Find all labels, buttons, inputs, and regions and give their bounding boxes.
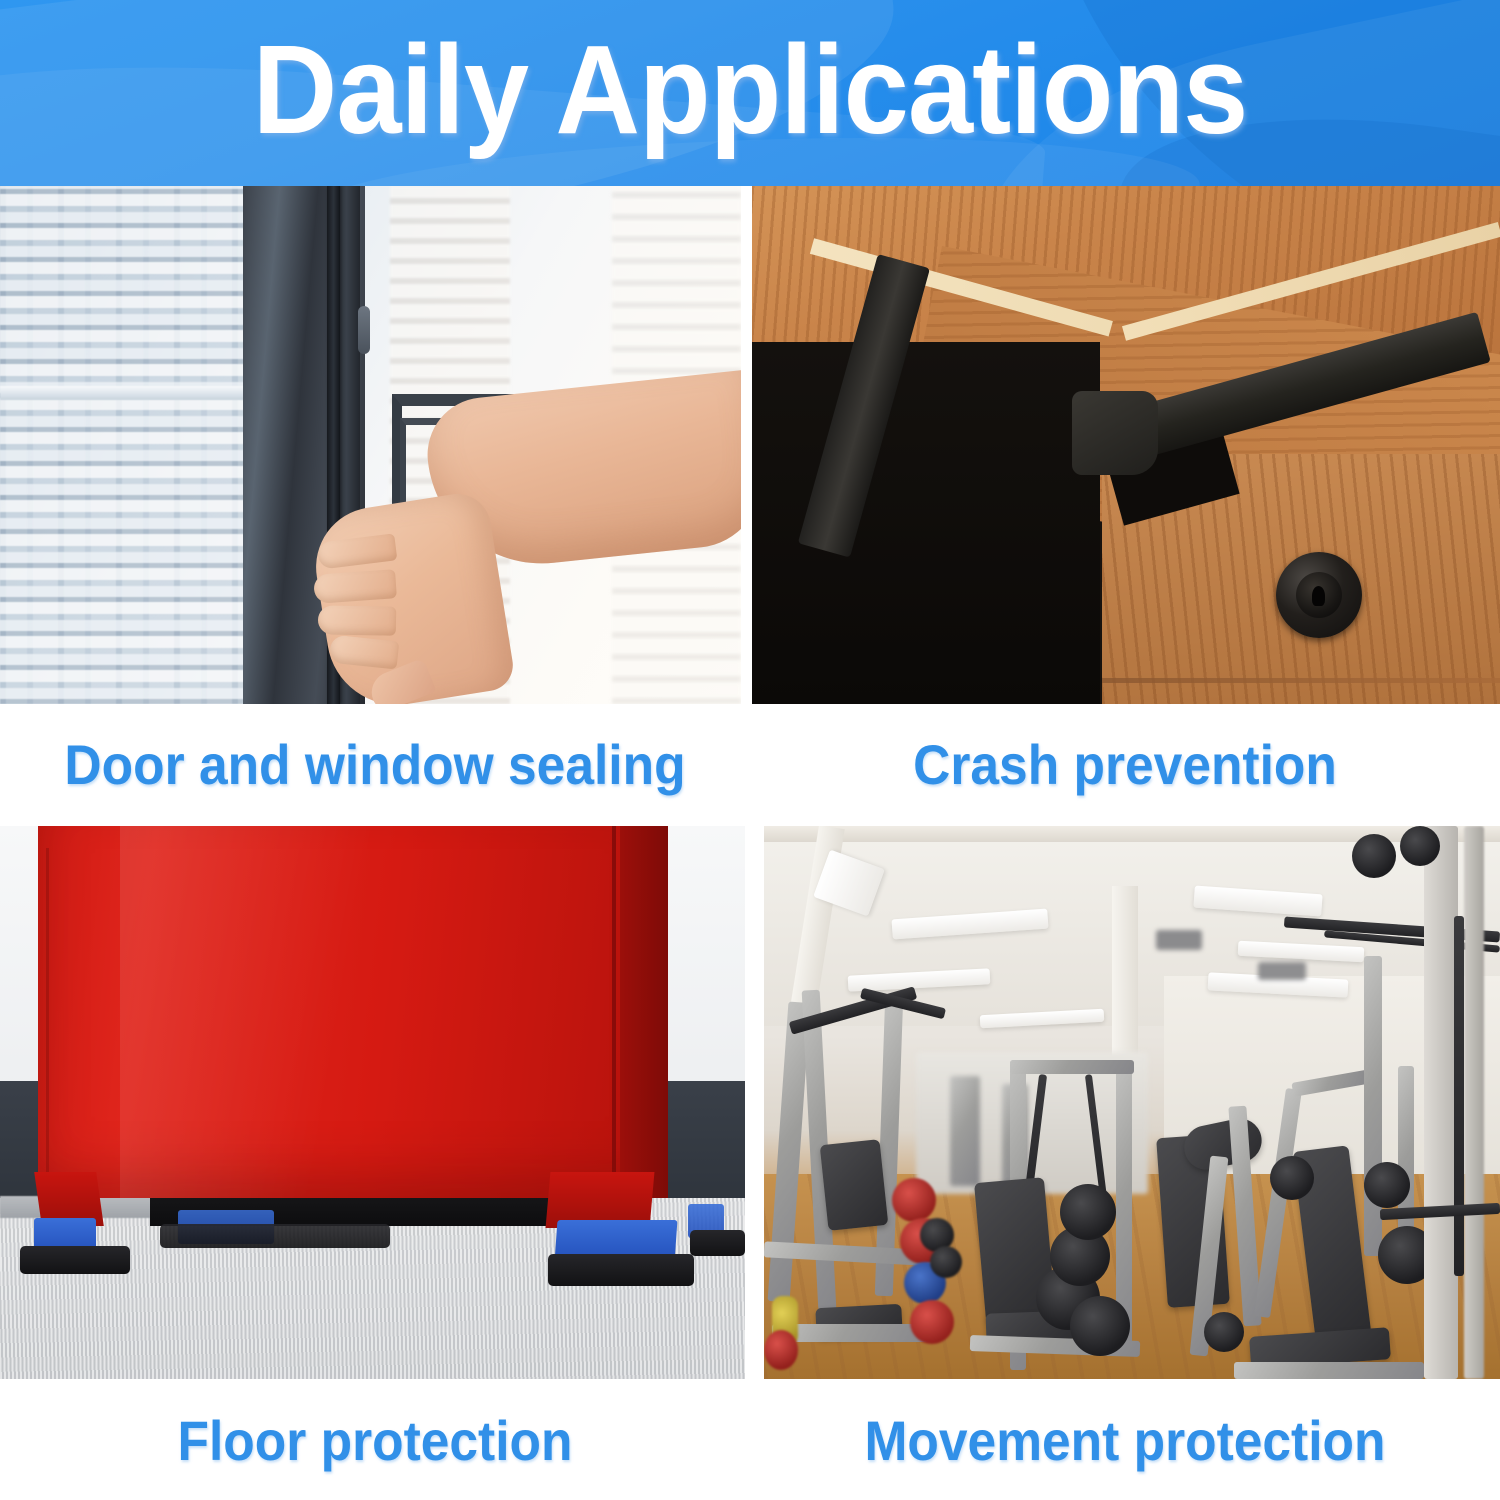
weight-plate-black — [1270, 1156, 1314, 1200]
weight-plate-red — [892, 1178, 936, 1222]
machine-cross-bar — [1010, 1060, 1134, 1074]
ceiling-vent — [1258, 962, 1306, 980]
weight-plate-black — [930, 1246, 962, 1278]
panel-movement-protection — [764, 826, 1500, 1379]
panel-crash-prevention — [752, 186, 1500, 704]
black-floor-protection-pad — [548, 1254, 694, 1286]
finger — [313, 569, 397, 604]
daily-applications-infographic: Daily Applications Door and window seali… — [0, 0, 1500, 1500]
weight-plate-red — [910, 1300, 954, 1344]
header-banner: Daily Applications — [0, 0, 1500, 186]
keyhole-icon — [1312, 586, 1325, 606]
window-handle — [358, 306, 370, 354]
cabinet-side-panel — [620, 826, 668, 1198]
cabinet-highlight — [120, 826, 420, 1198]
ceiling-pillar-center — [1112, 886, 1138, 1066]
weight-plate-black — [1364, 1162, 1410, 1208]
ceiling-vent — [1156, 930, 1202, 950]
weight-plate-black — [1060, 1184, 1116, 1240]
machine-seat-pad — [820, 1139, 889, 1231]
foam-corner-guard-corner — [1072, 391, 1158, 475]
caption-crash-prevention: Crash prevention — [780, 706, 1470, 824]
page-title: Daily Applications — [53, 0, 1448, 186]
weight-plate-black — [1070, 1296, 1130, 1356]
cabinet-seam — [46, 848, 49, 1188]
panel-floor-protection — [0, 826, 745, 1379]
cabinet-seam — [612, 826, 616, 1198]
city-buildings-left — [0, 186, 260, 704]
cable — [1454, 916, 1464, 1276]
weight-plate-red — [764, 1330, 798, 1370]
drawer-seam — [1102, 678, 1500, 683]
cable-weight-ball — [1352, 834, 1396, 878]
black-floor-protection-pad — [160, 1224, 390, 1248]
cable-weight-ball — [1400, 826, 1440, 866]
finger — [318, 605, 396, 635]
weight-plate-black — [1204, 1312, 1244, 1352]
background-machine — [950, 1076, 980, 1186]
black-floor-protection-pad — [20, 1246, 130, 1274]
caption-floor-protection: Floor protection — [30, 1381, 720, 1500]
black-floor-protection-pad — [690, 1230, 745, 1256]
foreground-post — [1424, 826, 1458, 1379]
machine-base — [1234, 1362, 1424, 1379]
panel-door-window-sealing — [0, 186, 741, 704]
foreground-post — [1464, 826, 1484, 1379]
caption-movement-protection: Movement protection — [780, 1381, 1470, 1500]
caption-door-window-sealing: Door and window sealing — [30, 706, 720, 824]
